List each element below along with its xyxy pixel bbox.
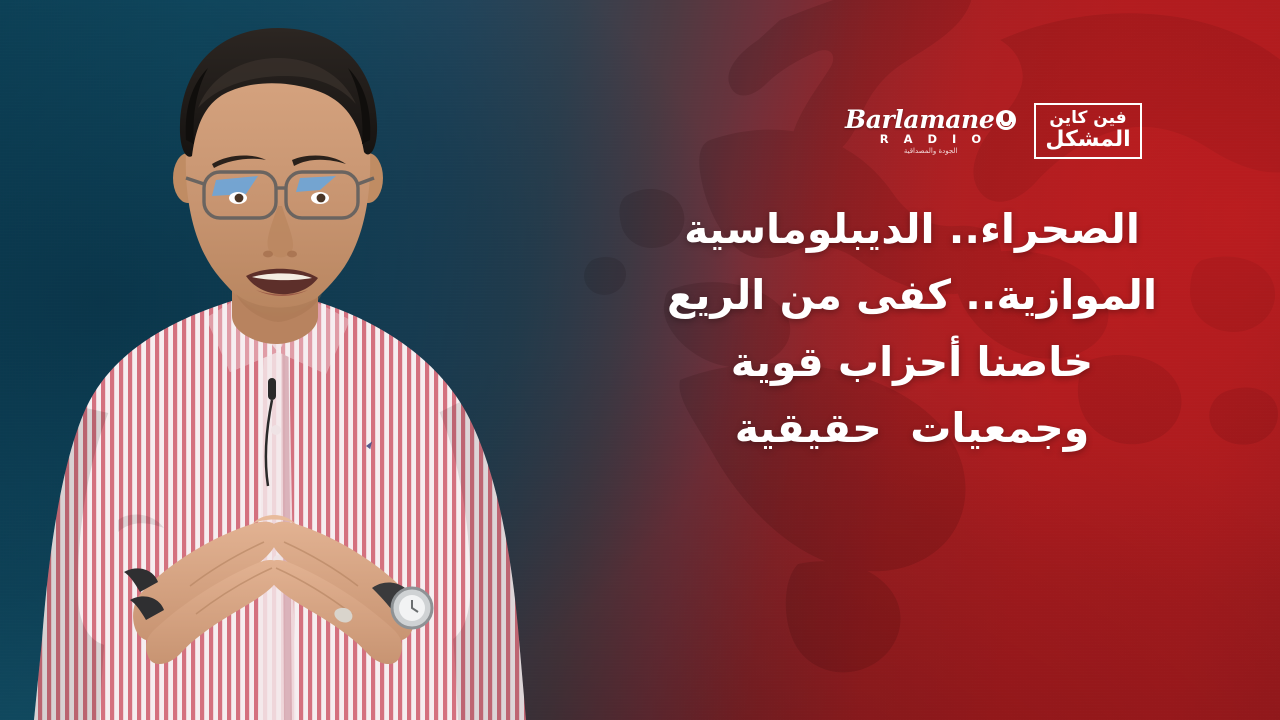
barlamane-radio-logo[interactable]: Barlamane R A D I O الجودة والمصداقية [845,107,1016,155]
headline-line-3: خاصنا أحزاب قوية [602,329,1222,395]
station-tagline: الجودة والمصداقية [904,148,958,155]
headline-line-2: الموازية.. كفى من الريع [602,262,1222,328]
barlamane-wordmark: Barlamane [845,107,1016,132]
headline-line-1: الصحراء.. الديبلوماسية [602,196,1222,262]
show-title-bottom: المشكل [1045,129,1130,151]
video-thumbnail: Barlamane R A D I O الجودة والمصداقية في… [0,0,1280,720]
show-logo[interactable]: فين كاين المشكل [1034,103,1141,159]
station-format-label: R A D I O [875,134,987,146]
headline-text: الصحراء.. الديبلوماسية الموازية.. كفى من… [602,196,1222,462]
logo-bar: Barlamane R A D I O الجودة والمصداقية في… [845,103,1142,159]
microphone-icon [996,110,1016,130]
show-title-top: فين كاين [1049,110,1126,127]
headline-line-4: وجمعيات حقيقية [602,395,1222,461]
station-name: Barlamane [845,107,994,132]
presenter-portrait [20,0,540,720]
